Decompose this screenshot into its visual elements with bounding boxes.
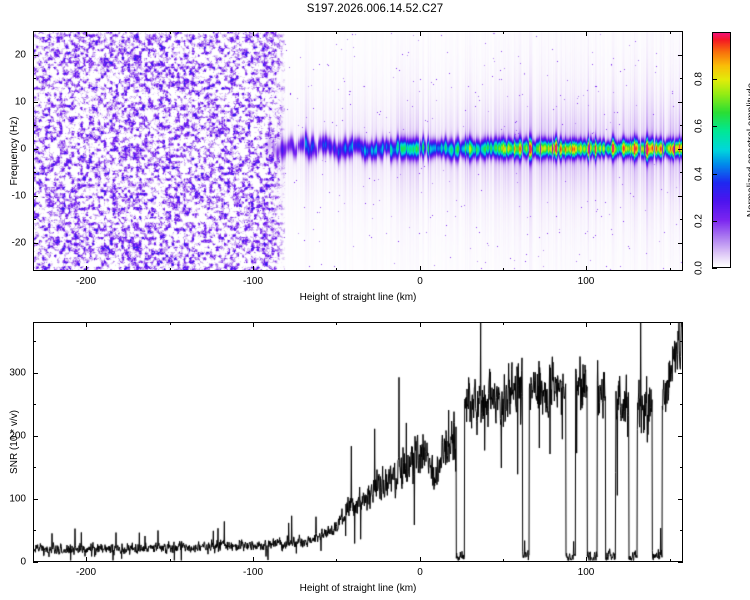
y-tick [678, 55, 683, 56]
x-tick [586, 322, 587, 327]
y-tick [680, 341, 683, 342]
snr-y-axis-label: SNR (10 * v/v) [9, 410, 20, 474]
x-tick [503, 268, 504, 271]
x-tick [420, 266, 421, 271]
x-tick [253, 266, 254, 271]
y-tick-label: 100 [0, 494, 26, 505]
colorbar-tick-label: 0.4 [693, 167, 704, 181]
y-tick [680, 125, 683, 126]
colorbar-tick-label: 0.8 [693, 72, 704, 86]
y-tick [680, 404, 683, 405]
x-tick-label: -100 [243, 567, 263, 578]
y-tick [680, 467, 683, 468]
colorbar-tick [712, 221, 717, 222]
y-tick [678, 436, 683, 437]
colorbar-tick [712, 268, 717, 269]
spectrogram-x-axis-label: Height of straight line (km) [300, 292, 417, 303]
y-tick [33, 196, 38, 197]
figure-title: S197.2026.006.14.52.C27 [0, 3, 750, 15]
spectrogram-y-axis-label: Frequency (Hz) [9, 117, 20, 186]
x-tick-label: -200 [76, 276, 96, 287]
x-tick [670, 322, 671, 325]
x-tick [336, 31, 337, 34]
y-tick [680, 530, 683, 531]
y-tick [678, 562, 683, 563]
y-tick [33, 436, 38, 437]
x-tick [86, 322, 87, 327]
x-tick [670, 31, 671, 34]
y-tick-label: -10 [0, 191, 26, 202]
y-tick-label: 300 [0, 368, 26, 379]
y-tick-label: 10 [0, 97, 26, 108]
x-tick [503, 31, 504, 34]
x-tick-label: -200 [76, 567, 96, 578]
y-tick [33, 102, 38, 103]
y-tick [678, 373, 683, 374]
x-tick-label: 0 [417, 567, 423, 578]
y-tick [33, 125, 36, 126]
x-tick [586, 31, 587, 36]
x-tick-label: 100 [578, 567, 595, 578]
x-tick [670, 559, 671, 562]
y-tick [33, 219, 36, 220]
y-tick [33, 530, 36, 531]
y-tick [33, 55, 38, 56]
y-tick [33, 149, 38, 150]
y-tick [680, 78, 683, 79]
x-tick [253, 322, 254, 327]
x-tick [253, 557, 254, 562]
y-tick [33, 467, 36, 468]
y-tick [678, 243, 683, 244]
y-tick [33, 341, 36, 342]
x-tick [86, 266, 87, 271]
x-tick [253, 31, 254, 36]
colorbar-axis-label: Normalized spectral amplitude [746, 83, 750, 218]
colorbar-tick [712, 79, 717, 80]
figure-root: S197.2026.006.14.52.C27 -200-1000100-20-… [0, 0, 750, 600]
y-tick-label: 20 [0, 50, 26, 61]
x-tick [336, 559, 337, 562]
snr-x-axis-label: Height of straight line (km) [300, 583, 417, 594]
y-tick [678, 102, 683, 103]
y-tick-label: -20 [0, 238, 26, 249]
colorbar-tick-label: 0.2 [693, 214, 704, 228]
colorbar-tick [712, 174, 717, 175]
y-tick [680, 172, 683, 173]
x-tick-label: 100 [578, 276, 595, 287]
y-tick-label: 0 [0, 557, 26, 568]
x-tick [336, 268, 337, 271]
x-tick [586, 557, 587, 562]
x-tick [86, 31, 87, 36]
x-tick [670, 268, 671, 271]
y-tick [33, 404, 36, 405]
y-tick [33, 78, 36, 79]
x-tick [170, 268, 171, 271]
x-tick [170, 322, 171, 325]
x-tick-label: -100 [243, 276, 263, 287]
x-tick [503, 322, 504, 325]
y-tick [678, 149, 683, 150]
x-tick [170, 559, 171, 562]
x-tick [170, 31, 171, 34]
x-tick [503, 559, 504, 562]
y-tick [33, 172, 36, 173]
spectrogram-plot-area [33, 31, 683, 271]
x-tick [336, 322, 337, 325]
x-tick [420, 322, 421, 327]
snr-plot-area [33, 322, 683, 562]
x-tick [86, 557, 87, 562]
y-tick [33, 499, 38, 500]
colorbar-scale [712, 32, 731, 268]
x-tick [586, 266, 587, 271]
colorbar-tick-label: 0.6 [693, 119, 704, 133]
y-tick [33, 562, 38, 563]
spectrogram-image [34, 32, 682, 270]
y-tick [678, 196, 683, 197]
snr-line-trace [34, 323, 682, 561]
colorbar-tick-label: 0.0 [693, 261, 704, 275]
colorbar-gradient [713, 33, 730, 267]
y-tick [33, 373, 38, 374]
x-tick [420, 557, 421, 562]
x-tick [420, 31, 421, 36]
y-tick [680, 219, 683, 220]
y-tick [33, 243, 38, 244]
colorbar-tick [712, 126, 717, 127]
y-tick [678, 499, 683, 500]
x-tick-label: 0 [417, 276, 423, 287]
